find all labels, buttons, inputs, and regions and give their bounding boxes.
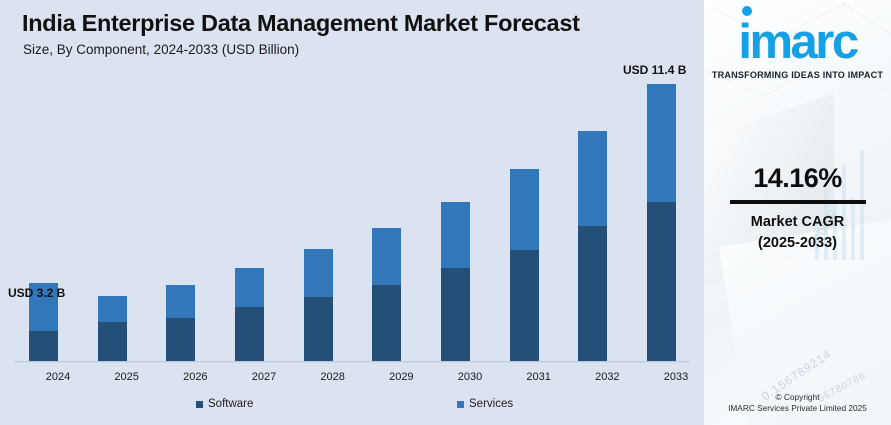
bar-segment-services[interactable]	[98, 296, 127, 322]
bar-2025[interactable]	[98, 296, 127, 361]
axis-label-2032: 2032	[577, 371, 637, 383]
logo-tagline: TRANSFORMING IDEAS INTO IMPACT	[704, 70, 891, 80]
legend-swatch-icon	[196, 401, 203, 408]
bar-segment-services[interactable]	[166, 285, 195, 318]
axis-label-2030: 2030	[440, 371, 500, 383]
legend-label-services: Services	[469, 398, 513, 410]
axis-label-2033: 2033	[646, 371, 706, 383]
legend-item-software[interactable]: Software	[196, 398, 253, 410]
bar-segment-services[interactable]	[235, 268, 264, 307]
bar-segment-software[interactable]	[304, 297, 333, 361]
copyright-block: © Copyright IMARC Services Private Limit…	[704, 392, 891, 413]
bar-segment-services[interactable]	[441, 202, 470, 268]
axis-label-2031: 2031	[509, 371, 569, 383]
legend-label-software: Software	[208, 398, 253, 410]
chart-panel: India Enterprise Data Management Market …	[0, 0, 704, 425]
bar-segment-services[interactable]	[578, 131, 607, 226]
brand-logo: imarc TRANSFORMING IDEAS INTO IMPACT	[704, 18, 891, 80]
bar-segment-services[interactable]	[372, 228, 401, 285]
bar-2033[interactable]	[647, 84, 676, 361]
copyright-line-2: IMARC Services Private Limited 2025	[704, 403, 891, 413]
bar-segment-software[interactable]	[29, 331, 58, 361]
axis-baseline	[14, 361, 690, 363]
plot-area: 2024202520262027202820292030203120322033	[0, 0, 704, 425]
bar-2026[interactable]	[166, 285, 195, 361]
copyright-line-1: © Copyright	[704, 392, 891, 402]
cagr-period: (2025-2033)	[704, 233, 891, 254]
chart-screenshot: India Enterprise Data Management Market …	[0, 0, 891, 425]
axis-label-2025: 2025	[97, 371, 157, 383]
callout-end-value: USD 11.4 B	[623, 63, 686, 77]
axis-label-2026: 2026	[165, 371, 225, 383]
bar-segment-services[interactable]	[647, 84, 676, 202]
cagr-label: Market CAGR	[704, 212, 891, 233]
bar-2027[interactable]	[235, 268, 264, 361]
chart-legend: Software Services	[0, 398, 704, 418]
axis-label-2029: 2029	[371, 371, 431, 383]
bar-2031[interactable]	[510, 169, 539, 361]
bar-segment-software[interactable]	[647, 202, 676, 361]
bar-2032[interactable]	[578, 131, 607, 361]
callout-start-value: USD 3.2 B	[8, 286, 65, 300]
bar-segment-services[interactable]	[304, 249, 333, 297]
bar-segment-software[interactable]	[578, 226, 607, 361]
brand-panel: 5000.0 0.156789214 56780788 imarc TRANSF…	[704, 0, 891, 425]
bar-segment-software[interactable]	[98, 322, 127, 361]
cagr-block: 14.16% Market CAGR (2025-2033)	[704, 163, 891, 254]
axis-label-2024: 2024	[28, 371, 88, 383]
axis-label-2028: 2028	[303, 371, 363, 383]
bar-segment-software[interactable]	[166, 318, 195, 361]
bar-segment-software[interactable]	[235, 307, 264, 361]
bar-2029[interactable]	[372, 228, 401, 361]
bar-2028[interactable]	[304, 249, 333, 361]
cagr-divider	[730, 200, 866, 204]
bar-2030[interactable]	[441, 202, 470, 361]
legend-swatch-icon	[457, 401, 464, 408]
bar-segment-services[interactable]	[510, 169, 539, 250]
bar-segment-software[interactable]	[441, 268, 470, 361]
bar-segment-software[interactable]	[372, 285, 401, 361]
legend-item-services[interactable]: Services	[457, 398, 513, 410]
imarc-wordmark: imarc	[738, 18, 856, 67]
axis-label-2027: 2027	[234, 371, 294, 383]
cagr-value: 14.16%	[704, 163, 891, 194]
bar-segment-software[interactable]	[510, 250, 539, 361]
logo-text: imarc	[738, 15, 856, 69]
